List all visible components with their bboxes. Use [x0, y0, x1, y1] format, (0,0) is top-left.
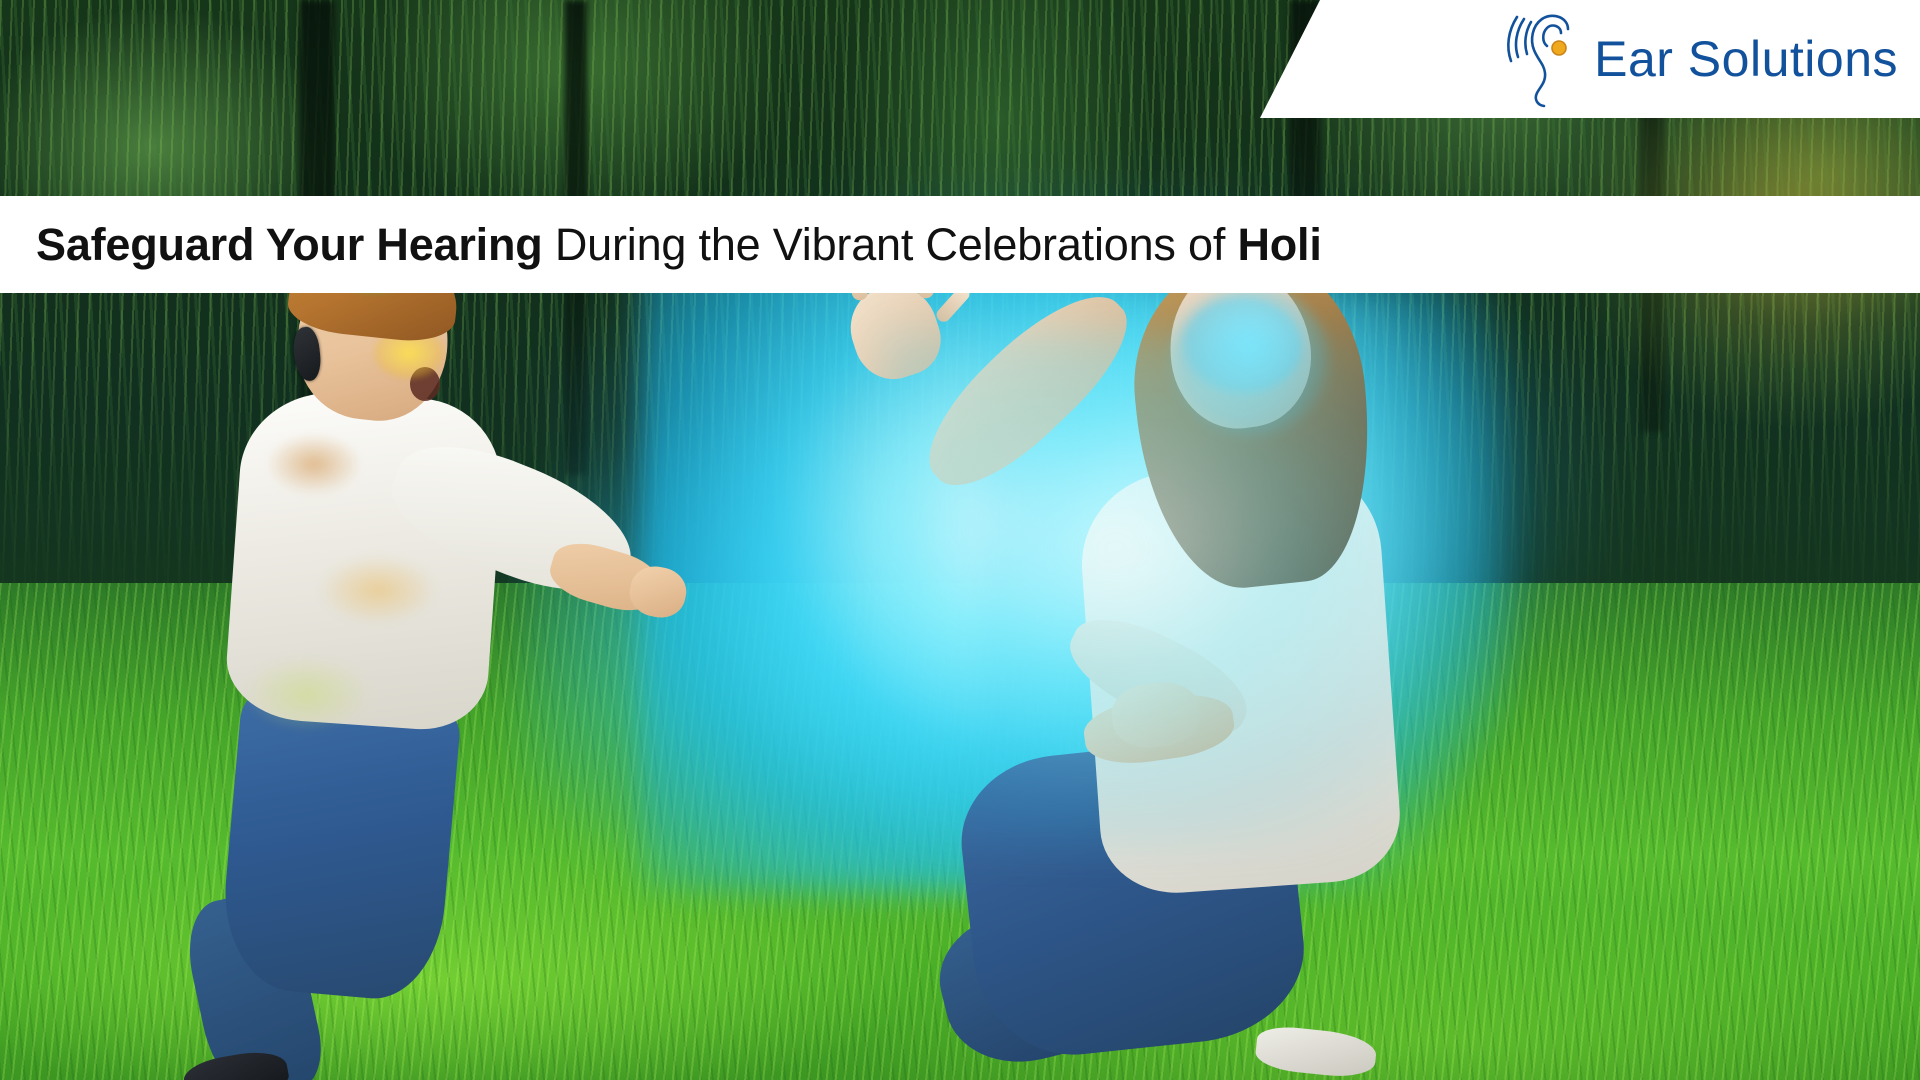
- boy-powder-stain: [266, 433, 362, 495]
- orange-dot-icon: [1552, 41, 1566, 55]
- page-title: Safeguard Your Hearing During the Vibran…: [0, 222, 1322, 267]
- headline-regular-middle: During the Vibrant Celebrations of: [543, 219, 1238, 270]
- ear-solutions-logo[interactable]: Ear Solutions: [1504, 7, 1898, 111]
- background-photo: [0, 0, 1920, 1080]
- ear-with-soundwaves-icon: [1504, 7, 1590, 111]
- boy-powder-stain: [242, 655, 372, 733]
- headline-bold-tail: Holi: [1237, 219, 1321, 270]
- holi-hearing-awareness-banner: Ear Solutions Safeguard Your Hearing Dur…: [0, 0, 1920, 1080]
- boy-powder-stain: [318, 555, 438, 625]
- woman-powder-on-hair: [1170, 286, 1330, 436]
- woman-shoe: [1254, 1024, 1378, 1080]
- logo-banner: Ear Solutions: [1260, 0, 1920, 118]
- headline-bold-lead: Safeguard Your Hearing: [36, 219, 543, 270]
- headline-band: Safeguard Your Hearing During the Vibran…: [0, 196, 1920, 293]
- woman-throwing-powder: [1020, 268, 1480, 1080]
- boy-with-hearing-aid: [178, 255, 608, 1080]
- logo-wordmark: Ear Solutions: [1594, 34, 1898, 84]
